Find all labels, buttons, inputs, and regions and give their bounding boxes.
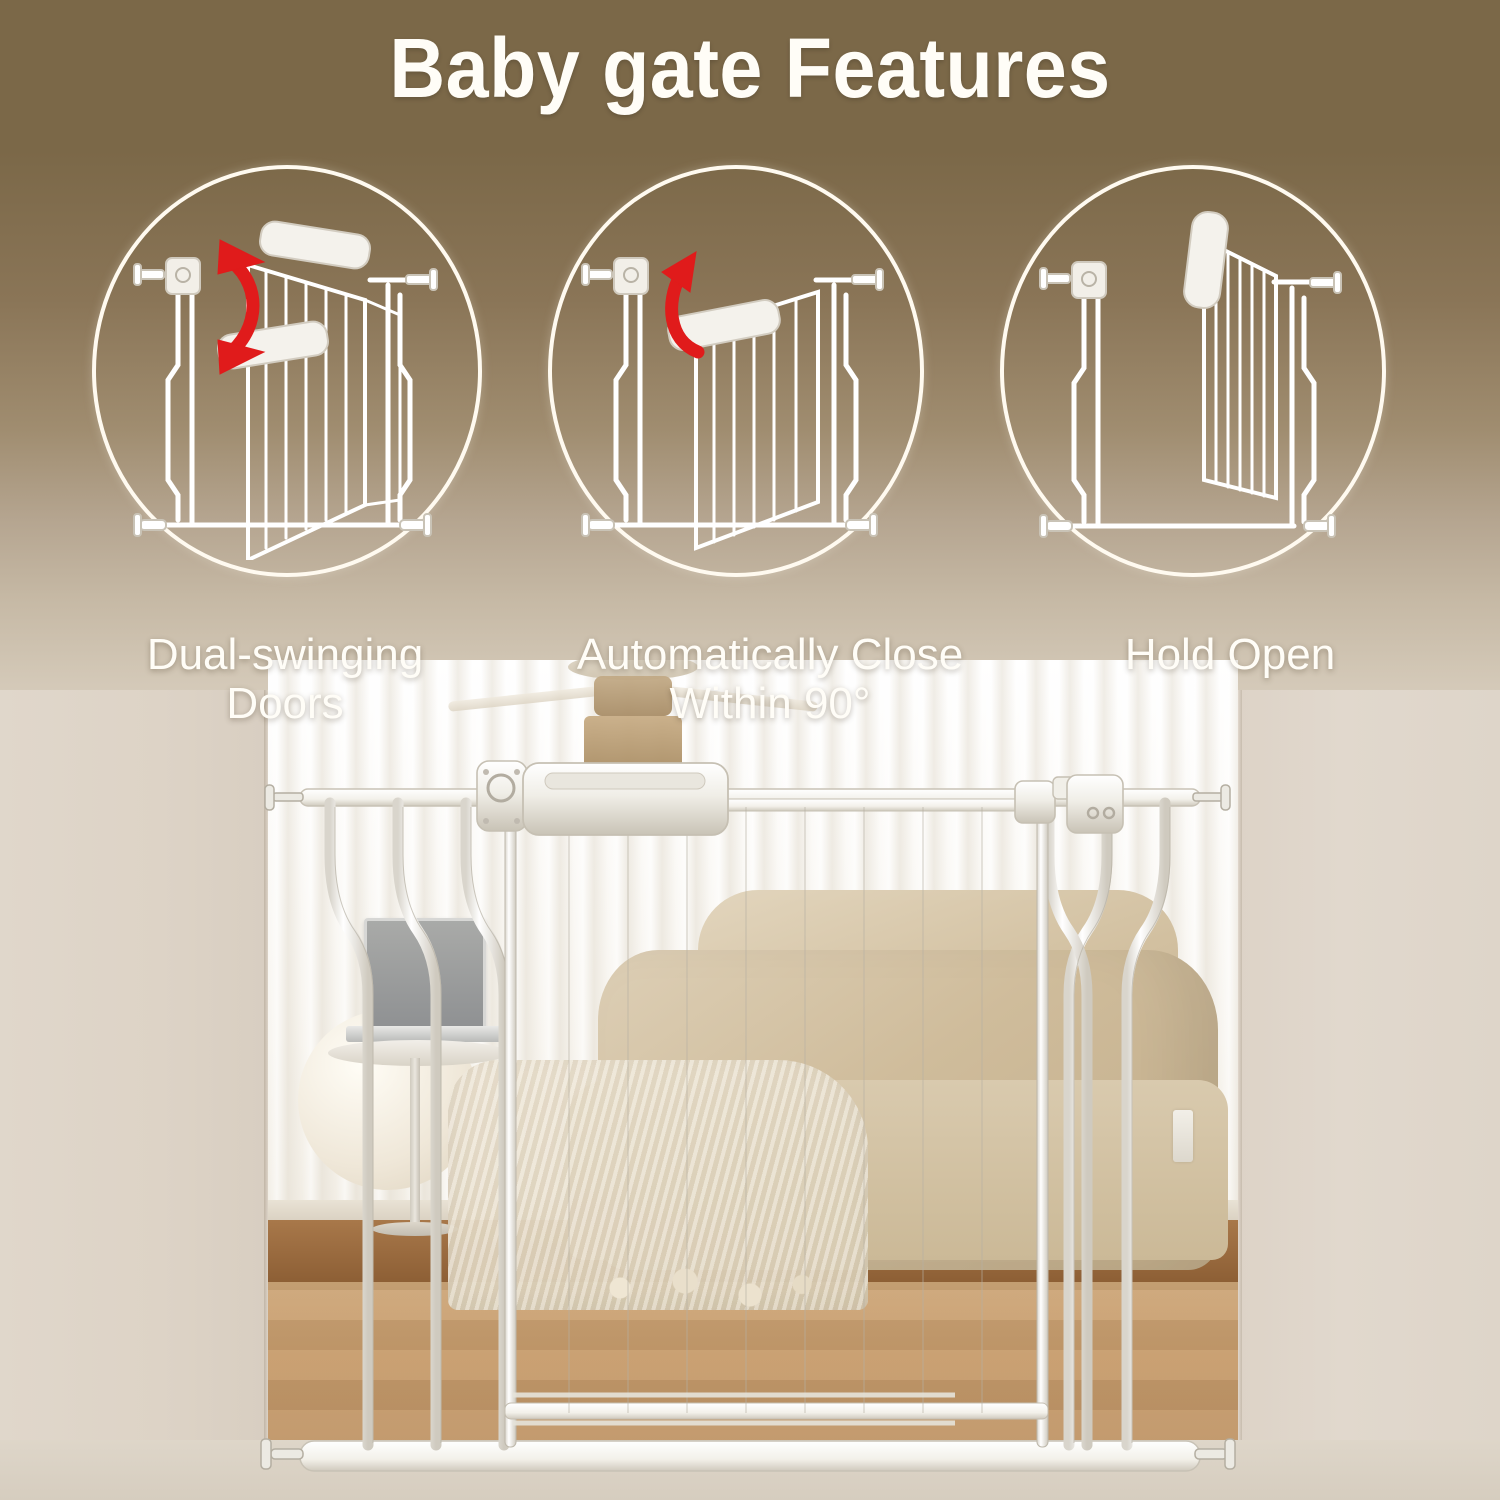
gate-hold-open-icon [1008, 180, 1374, 560]
gate-auto-close-icon [556, 180, 916, 560]
hinge-assembly [1015, 775, 1123, 833]
feature-caption-automatically-close: Automatically Close Within 90° [505, 630, 1035, 729]
latch-housing[interactable] [477, 761, 527, 831]
gate-door-panel[interactable] [505, 799, 1048, 1447]
infographic-canvas: Baby gate Features [0, 0, 1500, 1500]
gate-handle[interactable] [523, 763, 728, 835]
gate-handle [1182, 210, 1229, 310]
left-extension-panel [330, 803, 504, 1445]
gate-swing-both-ways-icon [100, 180, 470, 560]
right-wall [1238, 690, 1500, 1500]
left-wall [0, 690, 268, 1500]
feature-caption-dual-swinging-doors: Dual-swinging Doors [60, 630, 510, 729]
page-title: Baby gate Features [60, 20, 1440, 117]
main-product-gate [255, 755, 1240, 1500]
swing-arrow-icon [218, 240, 264, 374]
feature-caption-hold-open: Hold Open [1040, 630, 1420, 679]
